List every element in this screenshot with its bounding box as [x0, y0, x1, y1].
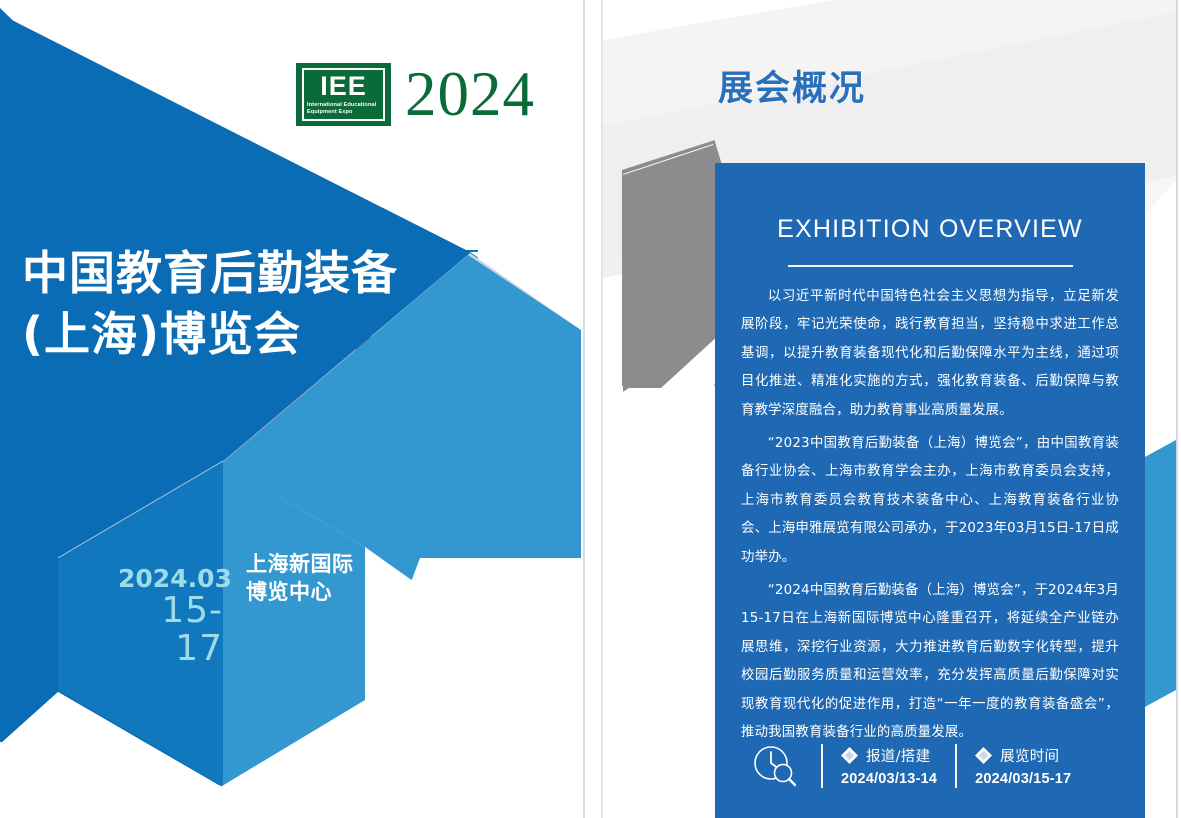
overview-heading: EXHIBITION OVERVIEW [741, 215, 1119, 244]
iee-logo-letters: IEE [320, 73, 367, 100]
footer-item-setup-date: 2024/03/13-14 [841, 771, 937, 787]
iee-logo-mark-inner: IEE International Educational Equipment … [302, 68, 385, 121]
event-year: 2024 [405, 63, 535, 126]
page-fold-line-left [583, 0, 585, 818]
event-venue-line2: 博览中心 [246, 579, 396, 607]
right-content-panel: 展会概况 EXHIBITION OVERVIEW 以习近平新时代中国特色社会主义… [603, 0, 1176, 818]
overview-paragraph: 以习近平新时代中国特色社会主义思想为指导，立足新发展阶段，牢记光荣使命，践行教育… [741, 283, 1119, 425]
diamond-icon [841, 747, 858, 764]
exhibition-overview-card: EXHIBITION OVERVIEW 以习近平新时代中国特色社会主义思想为指导… [715, 163, 1145, 818]
iee-logo-subtitle-line1: International Educational [307, 102, 380, 109]
footer-divider [821, 744, 823, 788]
overview-footer: 报道/搭建 2024/03/13-14 展览时间 2024/03/15-17 [741, 742, 1119, 790]
left-cover-panel: IEE International Educational Equipment … [0, 0, 581, 818]
event-venue-line1: 上海新国际 [246, 551, 396, 579]
iee-logo-subtitle: International Educational Equipment Expo [307, 102, 380, 116]
brochure-page: IEE International Educational Equipment … [0, 0, 1181, 818]
event-date-year-month: 2024.03 [118, 566, 223, 592]
event-date-days: 15-17 [118, 592, 223, 668]
diamond-icon [975, 747, 992, 764]
footer-item-setup: 报道/搭建 2024/03/13-14 [841, 745, 937, 787]
footer-divider [955, 744, 957, 788]
footer-item-setup-label: 报道/搭建 [866, 745, 930, 766]
footer-item-exhibition: 展览时间 2024/03/15-17 [975, 745, 1071, 787]
iee-logo-subtitle-line2: Equipment Expo [307, 109, 380, 116]
clock-search-icon [749, 742, 803, 790]
footer-item-setup-head: 报道/搭建 [841, 745, 937, 766]
overview-paragraph: “2024中国教育后勤装备（上海）博览会”，于2024年3月15-17日在上海新… [741, 577, 1119, 747]
page-title-line2: (上海)博览会 [22, 304, 492, 365]
event-venue: 上海新国际 博览中心 [246, 551, 396, 607]
footer-item-exhibition-label: 展览时间 [1000, 745, 1059, 766]
iee-logo: IEE International Educational Equipment … [296, 63, 535, 126]
page-title-line1: 中国教育后勤装备 [22, 246, 398, 300]
footer-item-exhibition-head: 展览时间 [975, 745, 1071, 766]
section-title: 展会概况 [718, 72, 866, 107]
iee-logo-mark: IEE International Educational Equipment … [296, 63, 391, 126]
overview-body: 以习近平新时代中国特色社会主义思想为指导，立足新发展阶段，牢记光荣使命，践行教育… [741, 283, 1119, 748]
page-title: 中国教育后勤装备 (上海)博览会 [22, 243, 492, 365]
footer-item-exhibition-date: 2024/03/15-17 [975, 771, 1071, 787]
event-date: 2024.03 15-17 [118, 566, 223, 668]
overview-paragraph: “2023中国教育后勤装备（上海）博览会”，由中国教育装备行业协会、上海市教育学… [741, 430, 1119, 572]
overview-heading-rule [788, 265, 1073, 267]
page-edge-line [1176, 0, 1178, 818]
